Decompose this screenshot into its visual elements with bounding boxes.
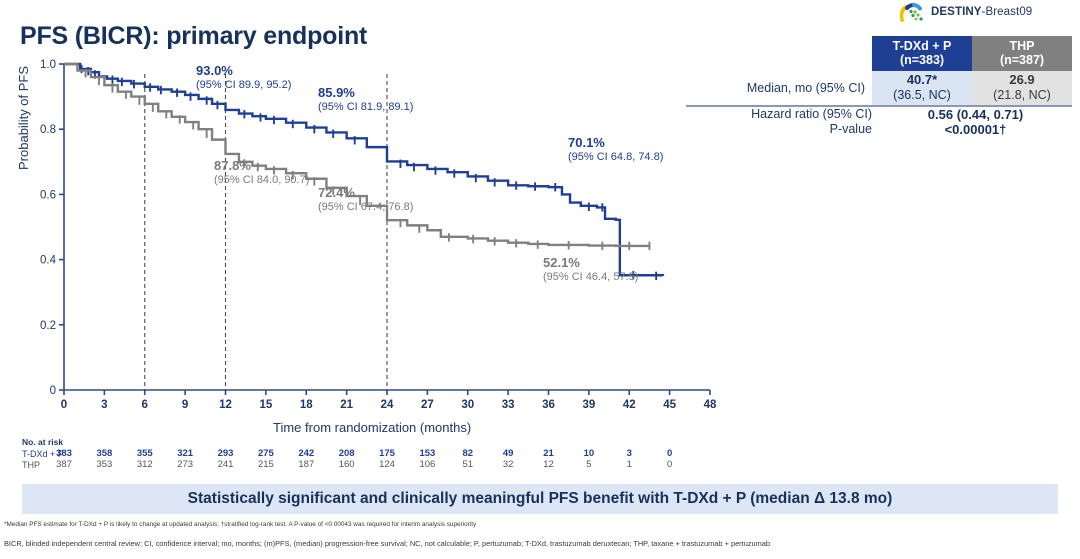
svg-text:9: 9 <box>182 399 188 411</box>
svg-text:0: 0 <box>61 399 67 411</box>
risk-cell: 21 <box>543 448 554 459</box>
results-value-median-thp: 26.9 (21.8, NC) <box>972 71 1072 105</box>
risk-cell: 353 <box>96 459 112 470</box>
svg-text:45: 45 <box>663 399 676 411</box>
column-n-tdxd: (n=383) <box>900 53 944 67</box>
risk-cell: 3 <box>627 448 632 459</box>
svg-text:42: 42 <box>623 399 636 411</box>
pvalue-value: <0.00001† <box>879 122 1072 137</box>
curve-annotation-tdxd-6mo: 93.0%(95% CI 89.9, 95.2) <box>196 64 291 91</box>
slide-root: DESTINY-Breast09 PFS (BICR): primary end… <box>0 0 1080 559</box>
svg-text:27: 27 <box>421 399 434 411</box>
risk-row-thp: THP 387353312273241215187160124106513212… <box>22 459 1049 470</box>
annotation-ci: (95% CI 89.9, 95.2) <box>196 79 291 91</box>
y-axis-label: Probability of PFS <box>16 66 31 170</box>
km-plot: Probability of PFS Time from randomizati… <box>18 58 718 403</box>
results-table-header-row: T-DXd + P (n=383) THP (n=387) <box>686 36 1072 71</box>
risk-cell: 82 <box>462 448 473 459</box>
logo-text-light: -Breast09 <box>982 6 1033 18</box>
column-n-thp: (n=387) <box>1000 53 1044 67</box>
risk-cell: 5 <box>586 459 591 470</box>
curve-annotation-thp-12mo: 72.4%(95% CI 67.4, 76.8) <box>318 186 413 213</box>
risk-cell: 1 <box>627 459 632 470</box>
footnote-line-2: BICR, blinded independent central review… <box>4 539 770 548</box>
conclusion-banner: Statistically significant and clinically… <box>22 484 1058 514</box>
svg-text:30: 30 <box>461 399 474 411</box>
results-row-median: Median, mo (95% CI) 40.7* (36.5, NC) 26.… <box>686 71 1072 105</box>
logo-arc-icon <box>900 2 926 22</box>
curve-annotation-thp-24mo: 52.1%(95% CI 46.4, 57.5) <box>543 256 638 283</box>
svg-text:0.8: 0.8 <box>40 124 56 136</box>
annotation-ci: (95% CI 81.9, 89.1) <box>318 101 413 113</box>
svg-text:0: 0 <box>50 385 56 397</box>
risk-cell: 10 <box>584 448 595 459</box>
svg-text:36: 36 <box>542 399 555 411</box>
annotation-percent: 52.1% <box>543 256 638 271</box>
svg-text:0.6: 0.6 <box>40 189 56 201</box>
svg-text:3: 3 <box>101 399 107 411</box>
risk-cell: 0 <box>667 459 672 470</box>
risk-cell: 383 <box>56 448 72 459</box>
risk-table-title: No. at risk <box>22 437 1049 447</box>
svg-text:0.2: 0.2 <box>40 320 56 332</box>
svg-text:33: 33 <box>502 399 515 411</box>
risk-values-thp: 387353312273241215187160124106513212510 <box>74 459 1049 470</box>
risk-cell: 387 <box>56 459 72 470</box>
risk-cell: 0 <box>667 448 672 459</box>
risk-row-tdxd: T-DXd + P 383358355321293275242208175153… <box>22 448 1049 459</box>
hazard-ratio-value: 0.56 (0.44, 0.71) <box>879 107 1072 122</box>
x-axis-label: Time from randomization (months) <box>273 420 471 435</box>
risk-values-tdxd: 3833583553212932752422081751538249211030 <box>74 448 1049 459</box>
median-value-thp: 26.9 <box>1009 73 1034 88</box>
curve-annotation-thp-6mo: 87.8%(95% CI 84.0, 90.7) <box>214 159 309 186</box>
annotation-percent: 93.0% <box>196 64 291 79</box>
results-column-header-tdxd: T-DXd + P (n=383) <box>872 36 972 71</box>
conclusion-banner-text: Statistically significant and clinically… <box>188 490 893 508</box>
risk-cell: 175 <box>379 448 395 459</box>
median-value-tdxd: 40.7* <box>907 73 937 88</box>
risk-cell: 153 <box>419 448 435 459</box>
curve-annotation-tdxd-12mo: 85.9%(95% CI 81.9, 89.1) <box>318 86 413 113</box>
svg-text:18: 18 <box>300 399 313 411</box>
median-ci-tdxd: (36.5, NC) <box>893 88 951 102</box>
risk-cell: 242 <box>298 448 314 459</box>
svg-text:24: 24 <box>381 399 394 411</box>
svg-text:15: 15 <box>259 399 272 411</box>
risk-cell: 273 <box>177 459 193 470</box>
svg-text:12: 12 <box>219 399 232 411</box>
annotation-percent: 72.4% <box>318 186 413 201</box>
median-ci-thp: (21.8, NC) <box>993 88 1051 102</box>
column-label-tdxd: T-DXd + P <box>893 39 952 53</box>
annotation-ci: (95% CI 46.4, 57.5) <box>543 271 638 283</box>
results-value-median-tdxd: 40.7* (36.5, NC) <box>872 71 972 105</box>
risk-cell: 275 <box>258 448 274 459</box>
svg-text:0.4: 0.4 <box>40 255 57 267</box>
risk-cell: 312 <box>137 459 153 470</box>
risk-cell: 124 <box>379 459 395 470</box>
results-column-header-thp: THP (n=387) <box>972 36 1072 71</box>
risk-cell: 358 <box>96 448 112 459</box>
svg-text:1.0: 1.0 <box>40 59 56 71</box>
risk-cell: 321 <box>177 448 193 459</box>
annotation-percent: 85.9% <box>318 86 413 101</box>
risk-cell: 241 <box>218 459 234 470</box>
risk-cell: 355 <box>137 448 153 459</box>
page-title: PFS (BICR): primary endpoint <box>20 22 367 51</box>
annotation-ci: (95% CI 67.4, 76.8) <box>318 201 413 213</box>
column-label-thp: THP <box>1010 39 1035 53</box>
risk-table: No. at risk T-DXd + P 383358355321293275… <box>22 437 1049 470</box>
results-table: T-DXd + P (n=383) THP (n=387) Median, mo… <box>686 36 1072 137</box>
svg-text:21: 21 <box>340 399 353 411</box>
footnote-line-1: *Median PFS estimate for T-DXd + P is li… <box>4 521 476 529</box>
logo-text-bold: DESTINY <box>931 6 982 18</box>
results-row-pvalue: P-value <0.00001† <box>686 122 1072 137</box>
risk-cell: 293 <box>218 448 234 459</box>
risk-cell: 32 <box>503 459 514 470</box>
risk-cell: 49 <box>503 448 514 459</box>
annotation-percent: 70.1% <box>568 136 663 151</box>
risk-cell: 208 <box>339 448 355 459</box>
risk-cell: 187 <box>298 459 314 470</box>
risk-cell: 160 <box>339 459 355 470</box>
risk-cell: 51 <box>462 459 473 470</box>
results-row-hazard-ratio: Hazard ratio (95% CI) 0.56 (0.44, 0.71) <box>686 107 1072 122</box>
svg-text:6: 6 <box>142 399 148 411</box>
destiny-breast09-logo: DESTINY-Breast09 <box>900 2 1032 22</box>
annotation-ci: (95% CI 84.0, 90.7) <box>214 174 309 186</box>
logo-text: DESTINY-Breast09 <box>931 6 1032 18</box>
risk-cell: 12 <box>543 459 554 470</box>
risk-cell: 106 <box>419 459 435 470</box>
svg-text:39: 39 <box>582 399 595 411</box>
svg-text:48: 48 <box>704 399 717 411</box>
curve-annotation-tdxd-24mo: 70.1%(95% CI 64.8, 74.8) <box>568 136 663 163</box>
annotation-ci: (95% CI 64.8, 74.8) <box>568 151 663 163</box>
annotation-percent: 87.8% <box>214 159 309 174</box>
risk-cell: 215 <box>258 459 274 470</box>
